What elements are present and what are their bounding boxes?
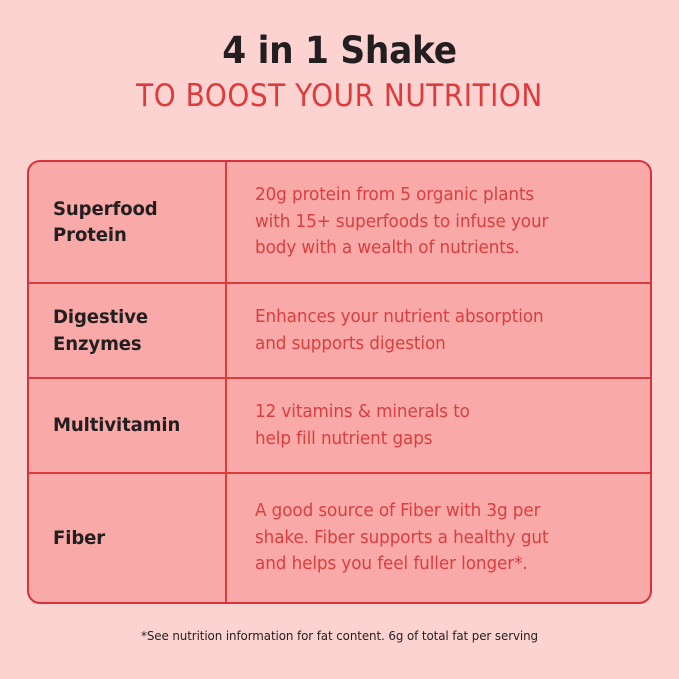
table-row: Superfood Protein 20g protein from 5 org… — [29, 162, 650, 282]
table-row: Fiber A good source of Fiber with 3g per… — [29, 472, 650, 602]
row-description: 20g protein from 5 organic plants with 1… — [255, 182, 617, 262]
row-description: 12 vitamins & minerals to help fill nutr… — [255, 399, 617, 452]
row-label: Digestive Enzymes — [53, 304, 209, 356]
row-description: Enhances your nutrient absorption and su… — [255, 304, 617, 357]
benefits-table: Superfood Protein 20g protein from 5 org… — [27, 160, 652, 604]
table-cell-label: Digestive Enzymes — [29, 284, 227, 377]
table-cell-description: Enhances your nutrient absorption and su… — [227, 284, 650, 377]
row-label: Multivitamin — [53, 412, 209, 438]
table-cell-description: A good source of Fiber with 3g per shake… — [227, 474, 650, 602]
page-title: 4 in 1 Shake — [24, 31, 655, 70]
row-label: Fiber — [53, 525, 209, 551]
nutrition-infographic: 4 in 1 Shake TO BOOST YOUR NUTRITION Sup… — [0, 0, 679, 679]
table-cell-label: Fiber — [29, 474, 227, 602]
table-cell-label: Multivitamin — [29, 379, 227, 472]
table-row: Multivitamin 12 vitamins & minerals to h… — [29, 377, 650, 472]
table-cell-label: Superfood Protein — [29, 162, 227, 282]
table-cell-description: 12 vitamins & minerals to help fill nutr… — [227, 379, 650, 472]
table-row: Digestive Enzymes Enhances your nutrient… — [29, 282, 650, 377]
heading-block: 4 in 1 Shake TO BOOST YOUR NUTRITION — [0, 0, 679, 113]
page-subtitle: TO BOOST YOUR NUTRITION — [34, 79, 645, 113]
table-cell-description: 20g protein from 5 organic plants with 1… — [227, 162, 650, 282]
row-description: A good source of Fiber with 3g per shake… — [255, 498, 617, 578]
footnote-text: *See nutrition information for fat conte… — [17, 628, 662, 643]
row-label: Superfood Protein — [53, 196, 209, 248]
